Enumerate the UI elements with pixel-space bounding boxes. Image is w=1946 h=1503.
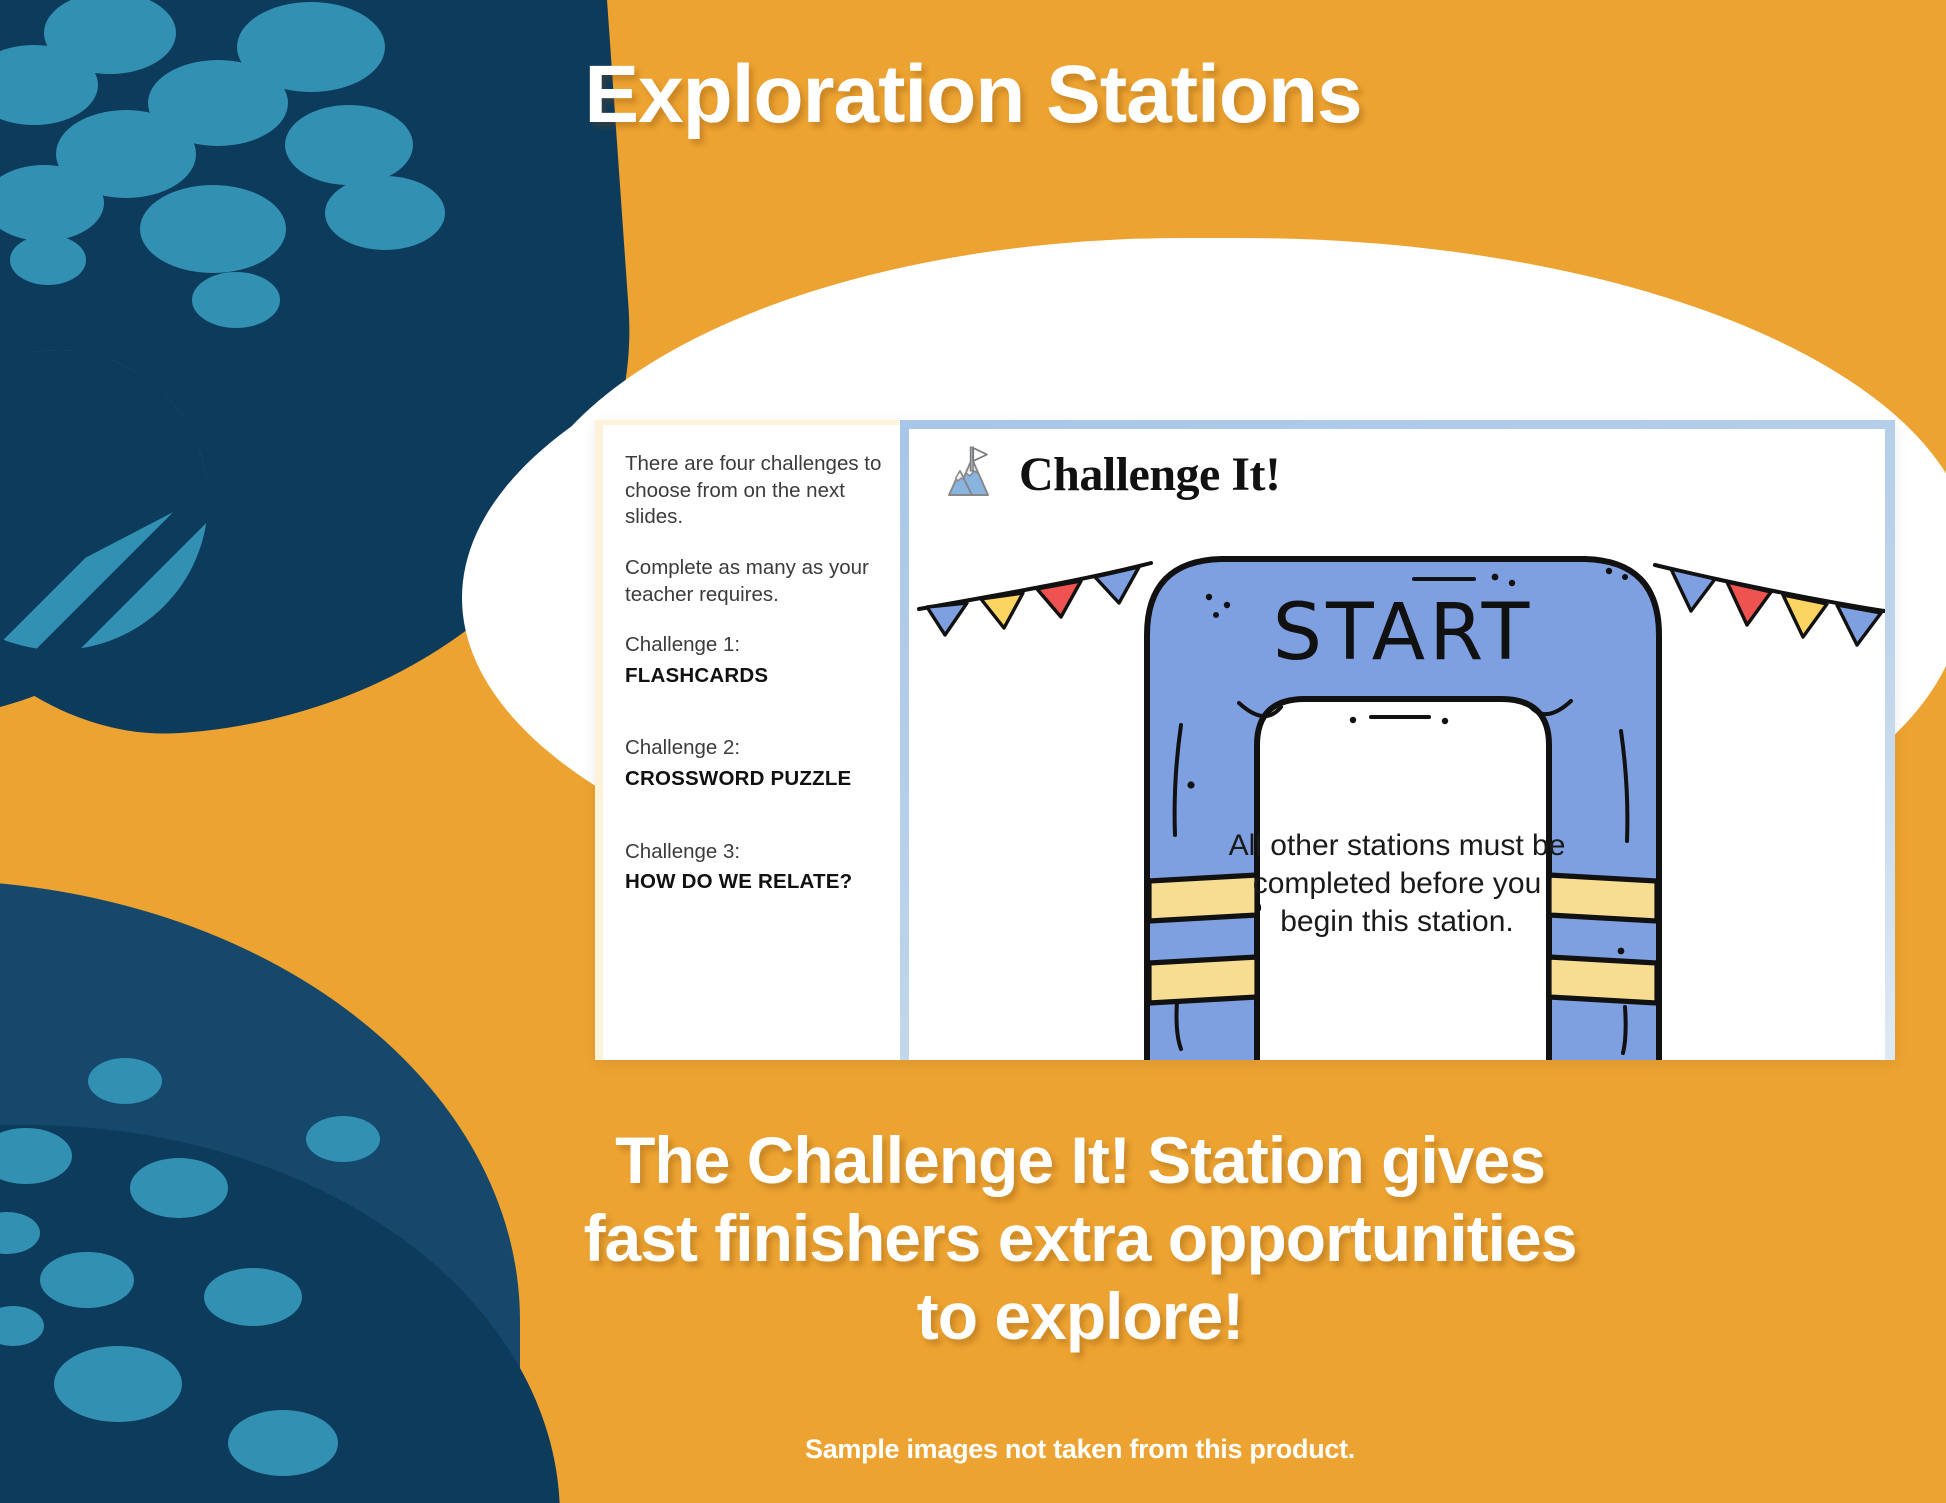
decor-dot — [0, 1306, 44, 1346]
slide-page-right: Challenge It! — [900, 420, 1895, 1060]
challenge-3-name: HOW DO WE RELATE? — [625, 869, 886, 896]
page-title: Exploration Stations — [0, 48, 1946, 142]
decor-dot — [192, 272, 280, 328]
decor-dot — [0, 1128, 72, 1184]
tagline: The Challenge It! Station gives fast fin… — [560, 1122, 1600, 1356]
decor-dot — [306, 1116, 380, 1162]
decor-dot — [0, 165, 104, 241]
challenge-it-title: Challenge It! — [1019, 447, 1280, 502]
slide-left-content: There are four challenges to choose from… — [603, 425, 900, 1060]
decor-dot — [0, 1212, 40, 1254]
slide-intro-line-1: There are four challenges to choose from… — [625, 451, 886, 531]
slide-preview: There are four challenges to choose from… — [595, 420, 1895, 1060]
decor-dot — [10, 235, 86, 285]
decor-dot — [325, 176, 445, 250]
arch-body-text: All other stations must be completed bef… — [1227, 827, 1567, 941]
challenge-1-name: FLASHCARDS — [625, 663, 886, 690]
start-arch-illustration: START All other stations must be complet… — [909, 549, 1885, 1060]
challenge-3-label: Challenge 3: — [625, 839, 886, 866]
decor-dot — [40, 1252, 134, 1308]
decor-dot — [88, 1058, 162, 1104]
mountain-flag-icon — [943, 445, 1001, 503]
challenge-2-label: Challenge 2: — [625, 735, 886, 762]
decor-dot — [204, 1268, 302, 1326]
striped-circle-decoration — [0, 350, 208, 650]
navy-blob-bottom-left-secondary — [0, 1125, 560, 1503]
decor-dot — [130, 1158, 228, 1218]
navy-blob-bottom-left — [0, 880, 520, 1503]
disclaimer-text: Sample images not taken from this produc… — [560, 1434, 1600, 1465]
striped-circle-navy-overlay — [0, 350, 208, 650]
decor-dot — [54, 1346, 182, 1422]
poster-canvas: Exploration Stations There are four chal… — [0, 0, 1946, 1503]
slide-intro-line-2: Complete as many as your teacher require… — [625, 555, 886, 608]
challenge-it-header: Challenge It! — [909, 429, 1885, 503]
svg-text:START: START — [1273, 588, 1534, 678]
decor-dot — [228, 1410, 338, 1476]
slide-page-left: There are four challenges to choose from… — [595, 420, 900, 1060]
slide-right-content: Challenge It! — [909, 429, 1885, 1060]
decor-dot — [140, 185, 286, 273]
challenge-1-label: Challenge 1: — [625, 632, 886, 659]
challenge-2-name: CROSSWORD PUZZLE — [625, 766, 886, 793]
